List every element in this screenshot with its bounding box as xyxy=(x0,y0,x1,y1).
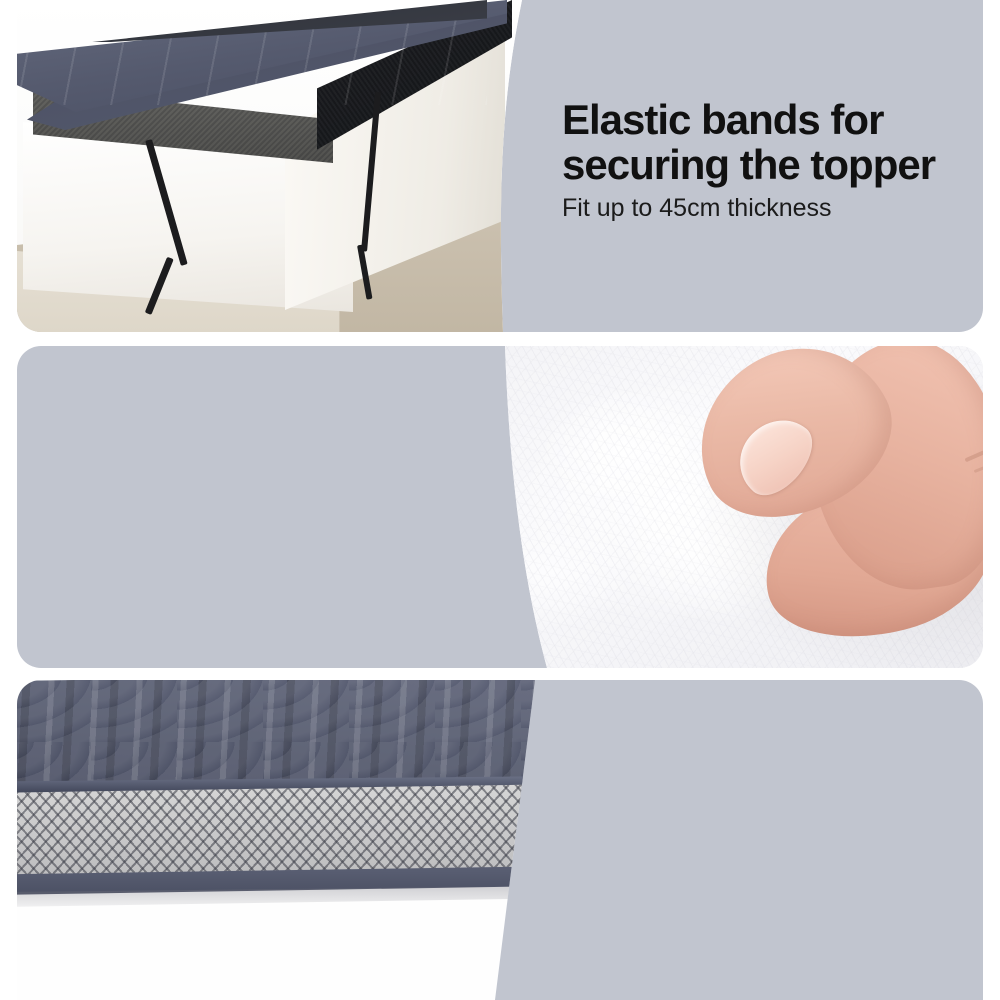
microfibre-filling-photo xyxy=(447,346,983,668)
topper-thickness-photo xyxy=(17,680,557,1000)
topper-tuft-highlights xyxy=(17,680,557,792)
product-feature-infographic: Elastic bands for securing the topper Fi… xyxy=(0,0,1000,1000)
panel-1-text-block: Elastic bands for securing the topper Fi… xyxy=(562,98,983,223)
panel-1-subtext: Fit up to 45cm thickness xyxy=(562,193,983,223)
topper-corner-photo xyxy=(17,0,537,332)
feature-panel-elastic-bands: Elastic bands for securing the topper Fi… xyxy=(17,0,983,332)
fingernail xyxy=(724,404,824,507)
panel-1-headline: Elastic bands for securing the topper xyxy=(562,98,983,187)
hand xyxy=(683,346,983,624)
knuckle-crease-1 xyxy=(964,410,983,462)
feature-panel-microfibre-filling: Innovative microfibre filing Soft and co… xyxy=(17,346,983,668)
feature-panel-ultra-thick: Ultra thick Durable & long-lasting xyxy=(17,680,983,1000)
